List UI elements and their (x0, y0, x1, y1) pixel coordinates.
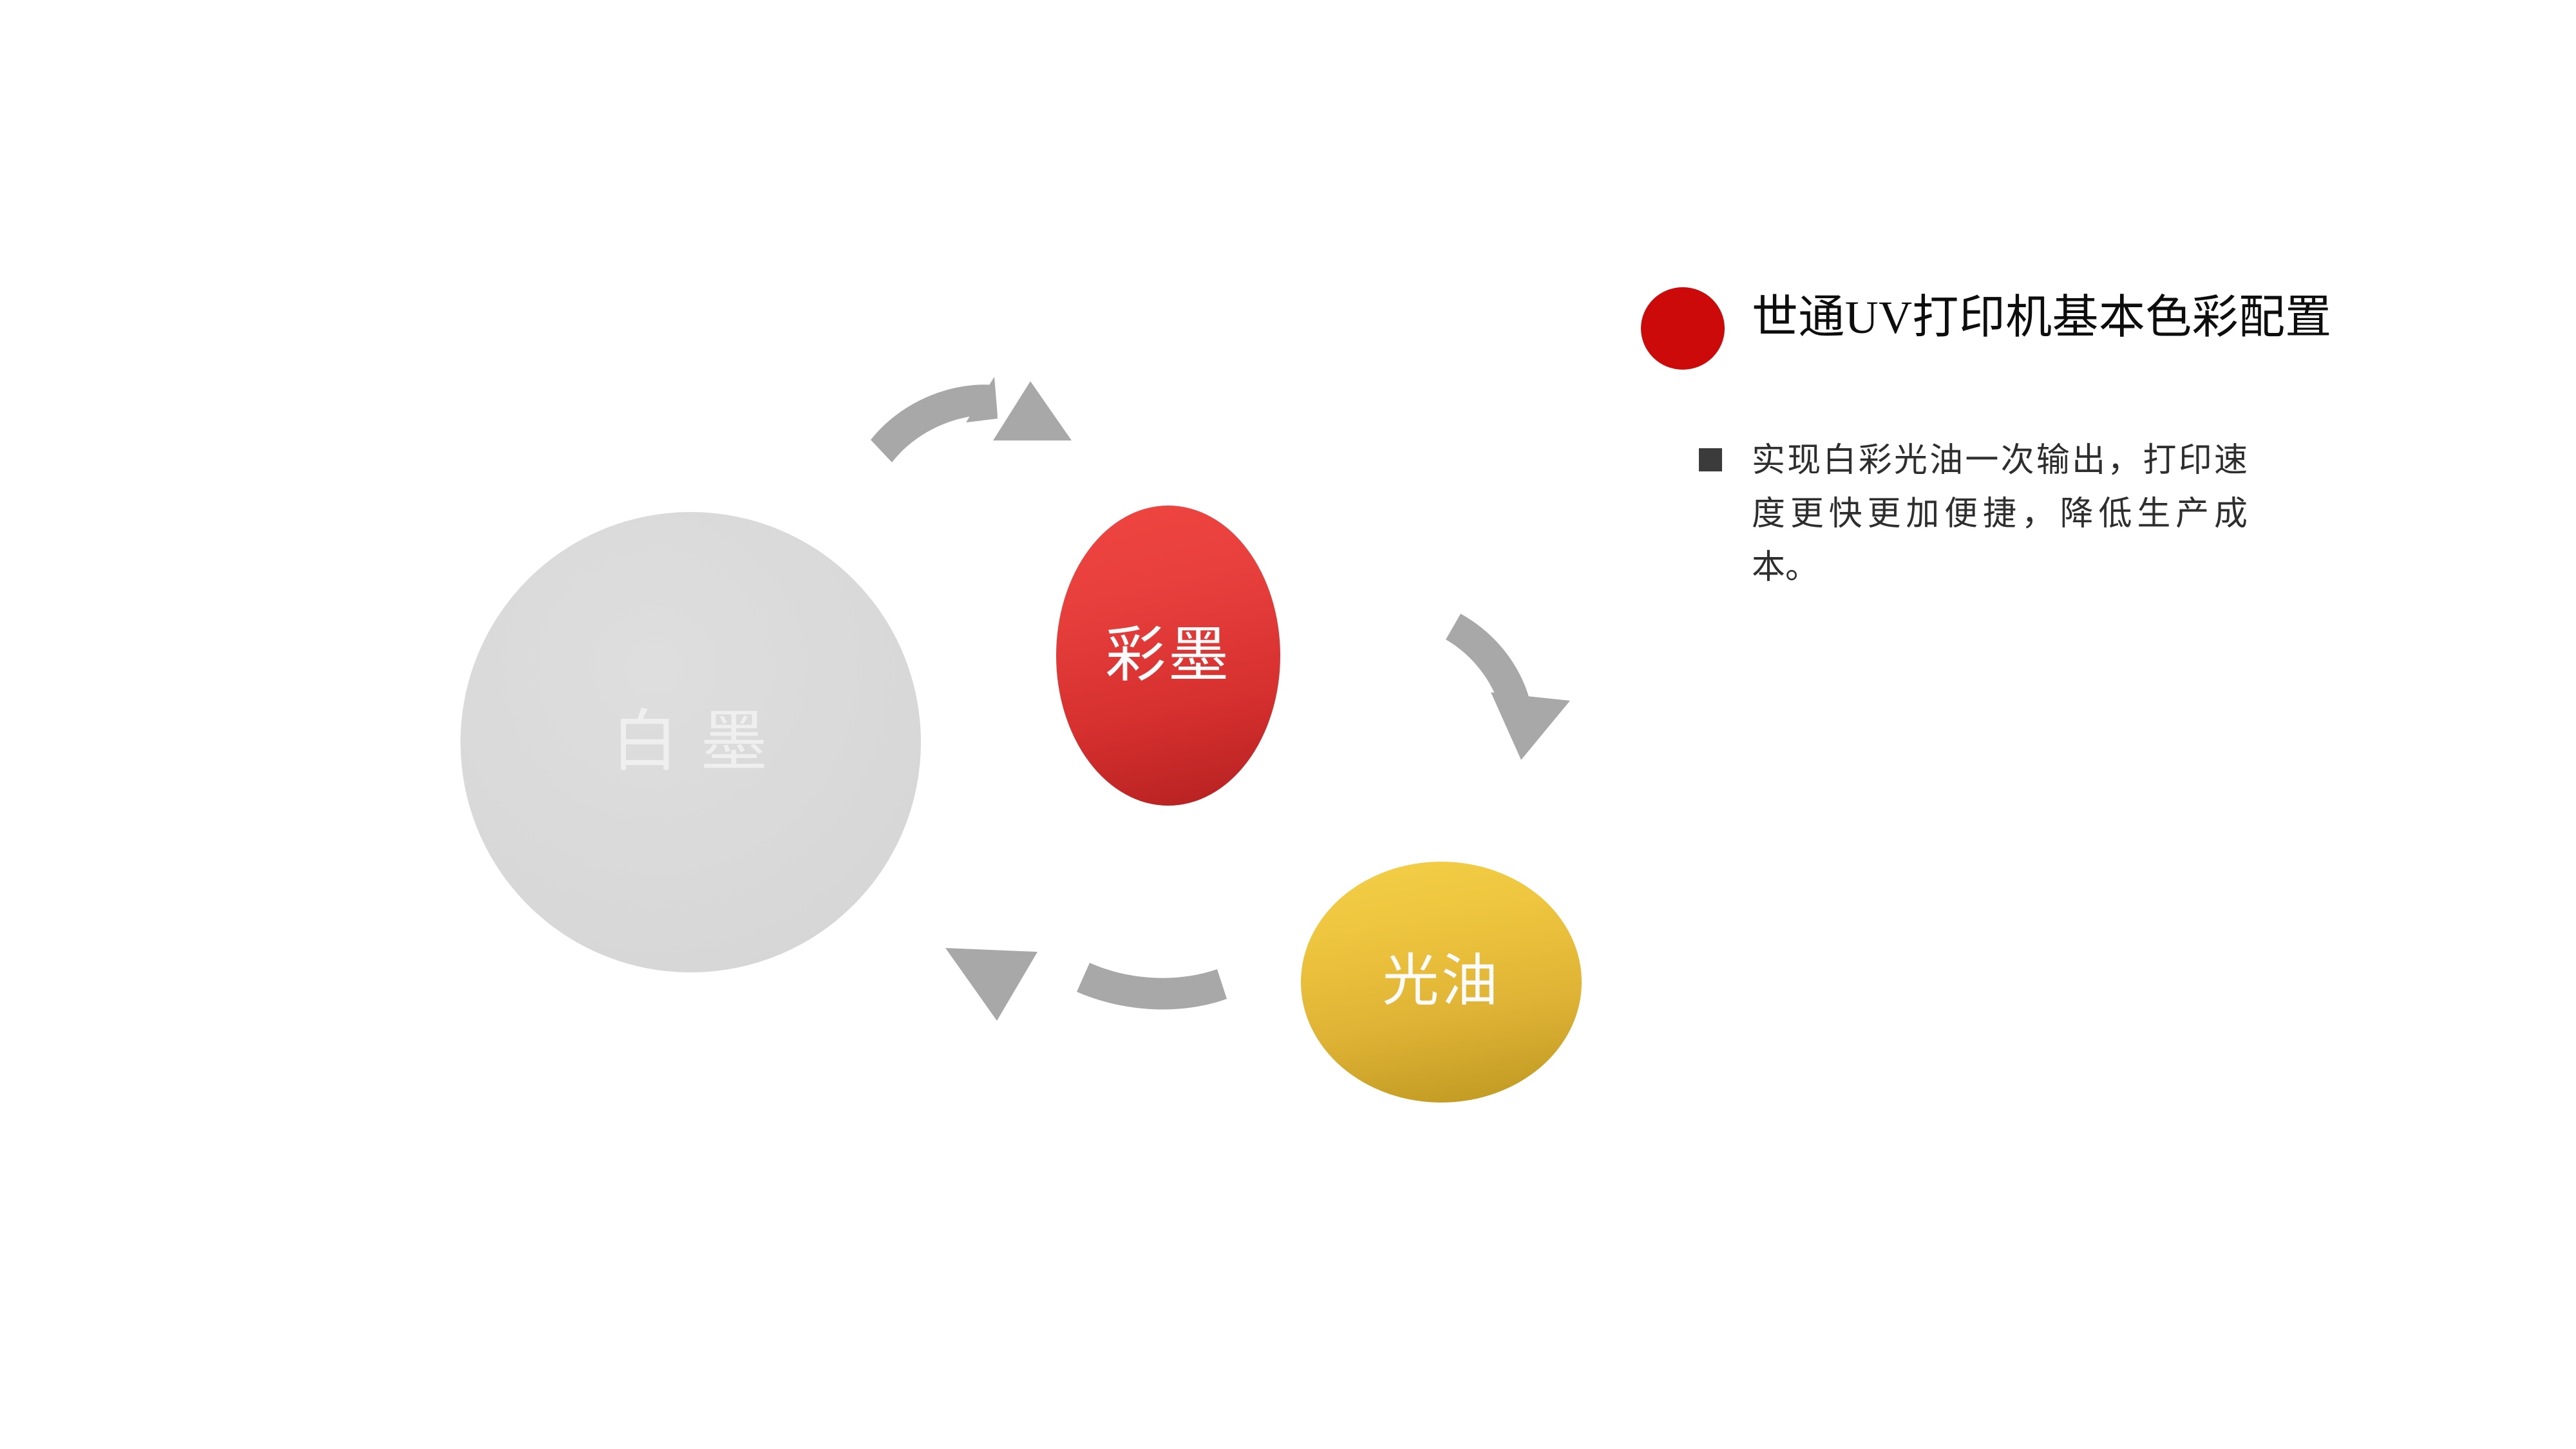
bubble-white-ink-label: 白 墨 (611, 709, 770, 776)
bubble-color-ink[interactable]: 彩墨 (1056, 506, 1280, 806)
red-dot-icon (1641, 287, 1725, 370)
slide-canvas: 白 墨 彩墨 光油 世通UV打印机基本色彩配置 实现白彩光油一次输出，打印速度更… (0, 0, 2576, 1449)
arrow-color-to-varnish-icon (1446, 614, 1570, 760)
panel-body-text: 实现白彩光油一次输出，打印速度更快更加便捷，降低生产成本。 (1752, 434, 2248, 595)
content-panel: 世通UV打印机基本色彩配置 实现白彩光油一次输出，打印速度更快更加便捷，降低生产… (1636, 277, 2409, 434)
arrow-white-to-color-icon (871, 377, 1072, 462)
arrow-varnish-to-white-icon (945, 948, 1227, 1021)
color-cycle-diagram: 白 墨 彩墨 光油 (0, 0, 1610, 1449)
bubble-white-ink[interactable]: 白 墨 (460, 512, 921, 972)
bubble-varnish-label: 光油 (1382, 954, 1500, 1010)
square-bullet-icon (1699, 448, 1722, 471)
panel-title: 世通UV打印机基本色彩配置 (1752, 289, 2332, 346)
panel-heading: 世通UV打印机基本色彩配置 (1636, 277, 2409, 374)
bubble-color-ink-label: 彩墨 (1105, 625, 1231, 686)
bubble-varnish[interactable]: 光油 (1301, 862, 1582, 1103)
